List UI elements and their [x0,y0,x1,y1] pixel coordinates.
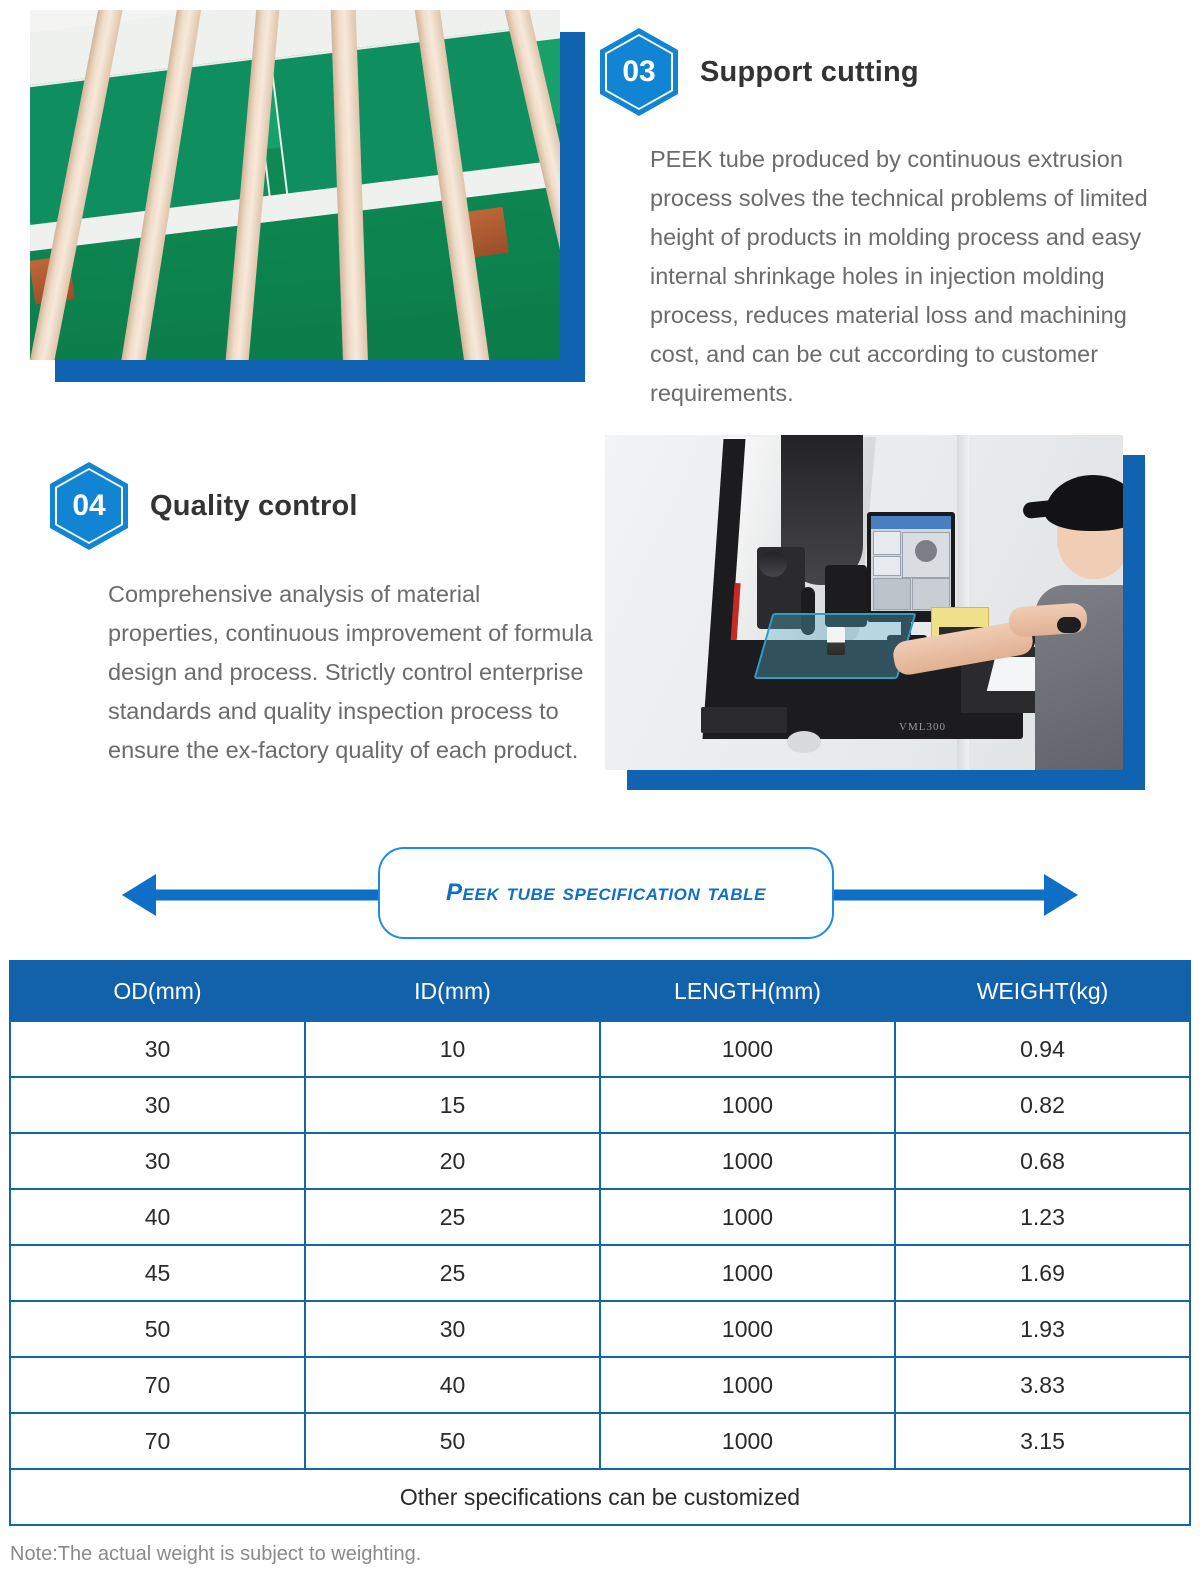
table-cell: 25 [305,1189,600,1245]
table-cell: 0.68 [895,1133,1190,1189]
photo-peek-rods [30,10,575,390]
table-body: 301010000.94301510000.82302010000.684025… [10,1021,1190,1469]
table-cell: 20 [305,1133,600,1189]
table-footer-row: Other specifications can be customized [10,1469,1190,1525]
table-header-row: OD(mm) ID(mm) LENGTH(mm) WEIGHT(kg) [10,961,1190,1021]
banner-title: Peek tube specification table [446,879,766,907]
table-cell: 70 [10,1357,305,1413]
specification-table: OD(mm) ID(mm) LENGTH(mm) WEIGHT(kg) 3010… [9,960,1191,1526]
table-cell: 1000 [600,1189,895,1245]
section-03: 03 Support cutting PEEK tube produced by… [600,28,1170,413]
table-row: 402510001.23 [10,1189,1190,1245]
table-cell: 40 [10,1189,305,1245]
table-cell: 1000 [600,1077,895,1133]
column-header-id: ID(mm) [305,961,600,1021]
section-title: Quality control [150,490,358,523]
arrow-right-icon [1044,874,1078,916]
table-row: 301010000.94 [10,1021,1190,1077]
software-bottom-panel [873,578,911,610]
column-header-length: LENGTH(mm) [600,961,895,1021]
table-cell: 45 [10,1245,305,1301]
table-cell: 30 [10,1077,305,1133]
step-badge-03: 03 [600,28,678,116]
table-cell: 30 [10,1021,305,1077]
software-list-panel [873,556,901,576]
table-cell: 30 [305,1301,600,1357]
table-cell: 50 [10,1301,305,1357]
section-body: PEEK tube produced by continuous extrusi… [650,140,1166,413]
table-cell: 0.94 [895,1021,1190,1077]
mouse [1057,617,1081,633]
table-cell: 1000 [600,1357,895,1413]
table-cell: 40 [305,1357,600,1413]
table-row: 705010003.15 [10,1413,1190,1469]
table-cell: 1.23 [895,1189,1190,1245]
table-cell: 1.69 [895,1245,1190,1301]
table-note: Note:The actual weight is subject to wei… [10,1543,421,1566]
table-drawer [701,707,787,733]
column-header-od: OD(mm) [10,961,305,1021]
table-cell: 50 [305,1413,600,1469]
table-cell: 1000 [600,1413,895,1469]
section-body: Comprehensive analysis of material prope… [108,575,594,770]
table-cell: 10 [305,1021,600,1077]
table-cell: 3.15 [895,1413,1190,1469]
measured-sample [827,627,845,655]
step-badge-04: 04 [50,462,128,550]
table-cell: 25 [305,1245,600,1301]
arrow-left-icon [122,874,156,916]
table-row: 302010000.68 [10,1133,1190,1189]
roller-handle [787,731,821,753]
table-row: 452510001.69 [10,1245,1190,1301]
lens-knob [759,551,787,577]
table-row: 503010001.93 [10,1301,1190,1357]
monitor-screen [871,516,951,611]
software-toolbar-panel [873,531,901,555]
software-titlebar [871,516,951,529]
table-cell: 15 [305,1077,600,1133]
table-cell: 30 [10,1133,305,1189]
measured-part-preview [915,540,937,562]
table-cell: 70 [10,1413,305,1469]
table-cell: 1000 [600,1245,895,1301]
photo-quality-inspection: VML300 [605,435,1145,790]
photo-image-rods [30,10,560,360]
table-cell: 1.93 [895,1301,1190,1357]
spec-table-banner: Peek tube specification table [0,845,1200,945]
section-title: Support cutting [700,56,919,89]
table-cell: 1000 [600,1021,895,1077]
photo-image-inspection: VML300 [605,435,1123,770]
table-footer-note: Other specifications can be customized [10,1469,1190,1525]
banner-title-box: Peek tube specification table [378,847,834,939]
section-04: 04 Quality control Comprehensive analysi… [50,462,600,770]
machine-model-label: VML300 [899,721,946,733]
table-cell: 1000 [600,1133,895,1189]
step-number: 03 [600,28,678,116]
table-cell: 3.83 [895,1357,1190,1413]
step-number: 04 [50,462,128,550]
column-header-weight: WEIGHT(kg) [895,961,1190,1021]
table-cell: 1000 [600,1301,895,1357]
table-row: 704010003.83 [10,1357,1190,1413]
table-row: 301510000.82 [10,1077,1190,1133]
table-cell: 0.82 [895,1077,1190,1133]
software-grid-panel [912,578,950,610]
